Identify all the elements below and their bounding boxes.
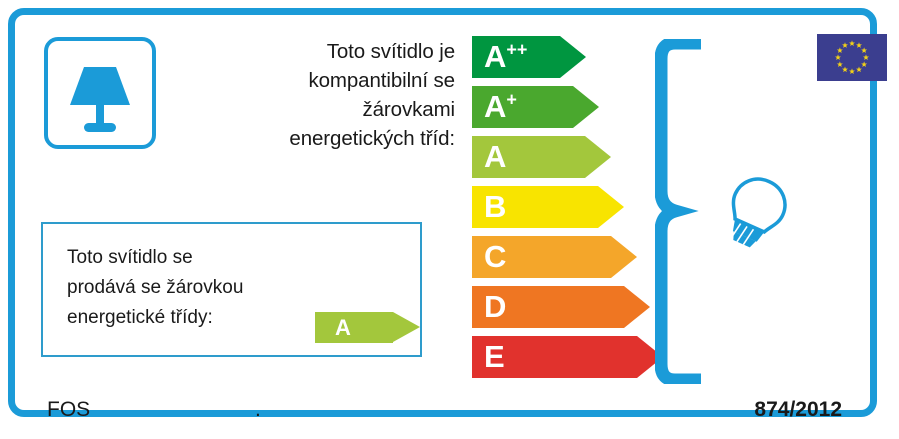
energy-class-arrow: A++ — [472, 36, 586, 78]
light-bulb-icon — [721, 173, 793, 256]
energy-class-arrow-label: C — [484, 236, 506, 278]
eu-flag-star — [849, 40, 855, 46]
energy-class-arrow-tip — [573, 86, 599, 128]
sold-class-badge: A — [315, 312, 420, 343]
energy-class-arrow-label: D — [484, 286, 506, 328]
energy-class-arrow-tip — [560, 36, 586, 78]
footer-brand: FOS — [47, 398, 90, 422]
footer-regulation: 874/2012 — [754, 398, 842, 422]
sold-line-2: prodává se žárovkou — [67, 273, 243, 303]
eu-flag-star — [837, 61, 843, 67]
sold-with-text: Toto svítidlo se prodává se žárovkou ene… — [67, 243, 243, 333]
eu-flag-star — [849, 68, 855, 74]
eu-flag-star — [842, 42, 848, 48]
sold-with-bulb-box: Toto svítidlo se prodává se žárovkou ene… — [41, 222, 422, 357]
energy-class-scale: A++A+ABCDE — [472, 36, 647, 384]
energy-class-arrow-superscript: ++ — [506, 40, 527, 60]
eu-flag-star — [835, 54, 841, 60]
energy-class-arrow-label: E — [484, 336, 505, 378]
energy-class-arrow-superscript: + — [506, 90, 517, 110]
energy-class-arrow-tip — [598, 186, 624, 228]
heading-line-4: energetických tříd: — [175, 124, 455, 153]
energy-class-arrow: B — [472, 186, 624, 228]
eu-flag-star — [837, 47, 843, 53]
eu-flag-star — [842, 67, 848, 73]
heading-line-3: žárovkami — [175, 95, 455, 124]
energy-class-arrow: A+ — [472, 86, 599, 128]
energy-class-arrow-label: B — [484, 186, 506, 228]
sold-line-1: Toto svítidlo se — [67, 243, 243, 273]
heading-line-2: kompantibilní se — [175, 66, 455, 95]
eu-flag-star — [863, 54, 869, 60]
energy-class-arrow-tip — [585, 136, 611, 178]
sold-line-3: energetické třídy: — [67, 303, 243, 333]
energy-label-card: Toto svítidlo je kompantibilní se žárovk… — [8, 8, 877, 417]
heading-line-1: Toto svítidlo je — [175, 37, 455, 66]
energy-class-arrow-label: A+ — [484, 86, 517, 128]
eu-flag-star — [861, 47, 867, 53]
lamp-pictogram-box — [44, 37, 156, 149]
energy-class-arrow: D — [472, 286, 650, 328]
eu-flag-icon — [817, 34, 887, 81]
energy-class-arrow-tip — [611, 236, 637, 278]
curly-brace-icon — [655, 39, 715, 389]
energy-class-arrow-label: A++ — [484, 36, 527, 78]
energy-class-arrow: E — [472, 336, 663, 378]
energy-class-arrow-tip — [624, 286, 650, 328]
sold-badge-tip — [393, 312, 420, 342]
eu-flag-star — [856, 42, 862, 48]
energy-class-arrow: A — [472, 136, 611, 178]
energy-class-arrow: C — [472, 236, 637, 278]
footer-separator: . — [255, 398, 261, 422]
sold-badge-label: A — [335, 312, 351, 343]
eu-flag-star — [861, 61, 867, 67]
page-title: Toto svítidlo je kompantibilní se žárovk… — [175, 37, 455, 153]
eu-flag-star — [856, 67, 862, 73]
sold-badge-body — [315, 312, 393, 343]
energy-class-arrow-label: A — [484, 136, 506, 178]
